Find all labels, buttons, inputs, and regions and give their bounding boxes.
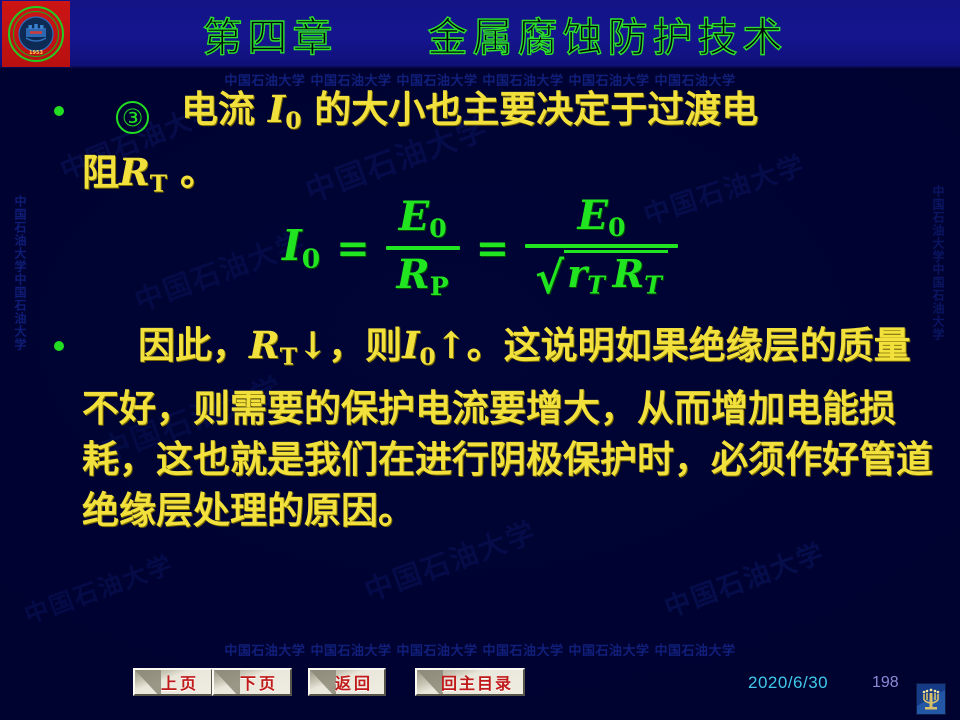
next-page-label: 下页 <box>226 670 278 694</box>
fraction-2-numerator: E0 <box>568 196 636 244</box>
watermark-band-bottom: 中国石油大学 中国石油大学 中国石油大学 中国石油大学 中国石油大学 中国石油大… <box>0 640 960 656</box>
bullet-dot-icon-2 <box>54 341 64 351</box>
formula-equals-1: = <box>332 225 374 272</box>
main-menu-label: 回主目录 <box>427 670 513 694</box>
p1-line2-a: 阻 <box>82 150 119 194</box>
p1-var-I-sub: 0 <box>285 108 301 135</box>
formula-fraction-1: E0 RP <box>386 197 460 299</box>
p2-var-R-sub: T <box>280 344 297 371</box>
p1-var-I: I <box>268 87 285 131</box>
p1-var-R-sub: T <box>150 170 167 197</box>
bullet-paragraph-1: ③电流 I0 的大小也主要决定于过渡电阻RT 。 <box>54 84 934 209</box>
p1-line1-b: 的大小也主要决定于过渡电 <box>301 87 758 131</box>
bullet-paragraph-2: 因此，RT↓，则I0↑。这说明如果绝缘层的质量不好，则需要的保护电流要增大，从而… <box>54 320 944 536</box>
p2-seg1: 因此， <box>138 323 249 367</box>
formula-fraction-2: E0 √ rT RT <box>525 196 678 300</box>
p2-seg2: ，则 <box>328 323 402 367</box>
p1-line1-a: 电流 <box>181 87 268 131</box>
p2-arrow-down-icon: ↓ <box>297 323 328 367</box>
prev-page-button[interactable]: 上页 <box>133 668 213 696</box>
paragraph-2-text: 因此，RT↓，则I0↑。这说明如果绝缘层的质量不好，则需要的保护电流要增大，从而… <box>82 320 944 536</box>
slide-content: ③电流 I0 的大小也主要决定于过渡电阻RT 。 I0 = E0 RP = E0 <box>0 68 960 628</box>
slide-header: 第四章 金属腐蚀防护技术 <box>0 0 960 68</box>
university-logo: 1953 <box>2 1 70 67</box>
formula-I0: I0 = E0 RP = E0 √ rT RT <box>0 196 960 300</box>
university-emblem-icon: 1953 <box>7 5 65 63</box>
formula-lhs: I0 <box>282 221 320 274</box>
p2-var-R: R <box>249 323 280 367</box>
fraction-1-numerator: E0 <box>389 197 457 245</box>
date-label: 2020/6/30 <box>748 673 828 693</box>
svg-text:1953: 1953 <box>29 50 43 56</box>
decorative-menorah-icon <box>916 683 946 715</box>
page-number: 198 <box>872 674 899 692</box>
p2-var-I-sub: 0 <box>419 344 435 371</box>
circled-number-3: ③ <box>116 101 149 134</box>
slide-canvas: 中国石油大学 中国石油大学 中国石油大学 中国石油大学 中国石油大学 中国石油大… <box>0 0 960 720</box>
p2-var-I: I <box>402 323 419 367</box>
menorah-glyph <box>917 684 945 714</box>
slide-footer: 上页 下页 返回 回主目录 2020/6/30 198 <box>0 660 960 720</box>
fraction-1-denominator: RP <box>387 250 459 299</box>
p2-arrow-up-icon: ↑ <box>436 323 467 367</box>
page-title: 第四章 金属腐蚀防护技术 <box>0 0 960 68</box>
square-root: √ rT RT <box>535 250 668 299</box>
radicand: rT RT <box>564 250 668 299</box>
radical-sign-icon: √ <box>535 250 564 299</box>
main-menu-button[interactable]: 回主目录 <box>415 668 525 696</box>
return-button[interactable]: 返回 <box>308 668 386 696</box>
return-label: 返回 <box>321 670 373 694</box>
paragraph-1-text: ③电流 I0 的大小也主要决定于过渡电阻RT 。 <box>82 84 934 209</box>
prev-page-label: 上页 <box>147 670 199 694</box>
fraction-2-denominator: √ rT RT <box>525 248 678 300</box>
p1-line2-b: 。 <box>167 150 217 194</box>
p1-var-R: R <box>119 150 150 194</box>
formula-equals-2: = <box>472 225 514 272</box>
next-page-button[interactable]: 下页 <box>212 668 292 696</box>
bullet-dot-icon <box>54 106 64 116</box>
